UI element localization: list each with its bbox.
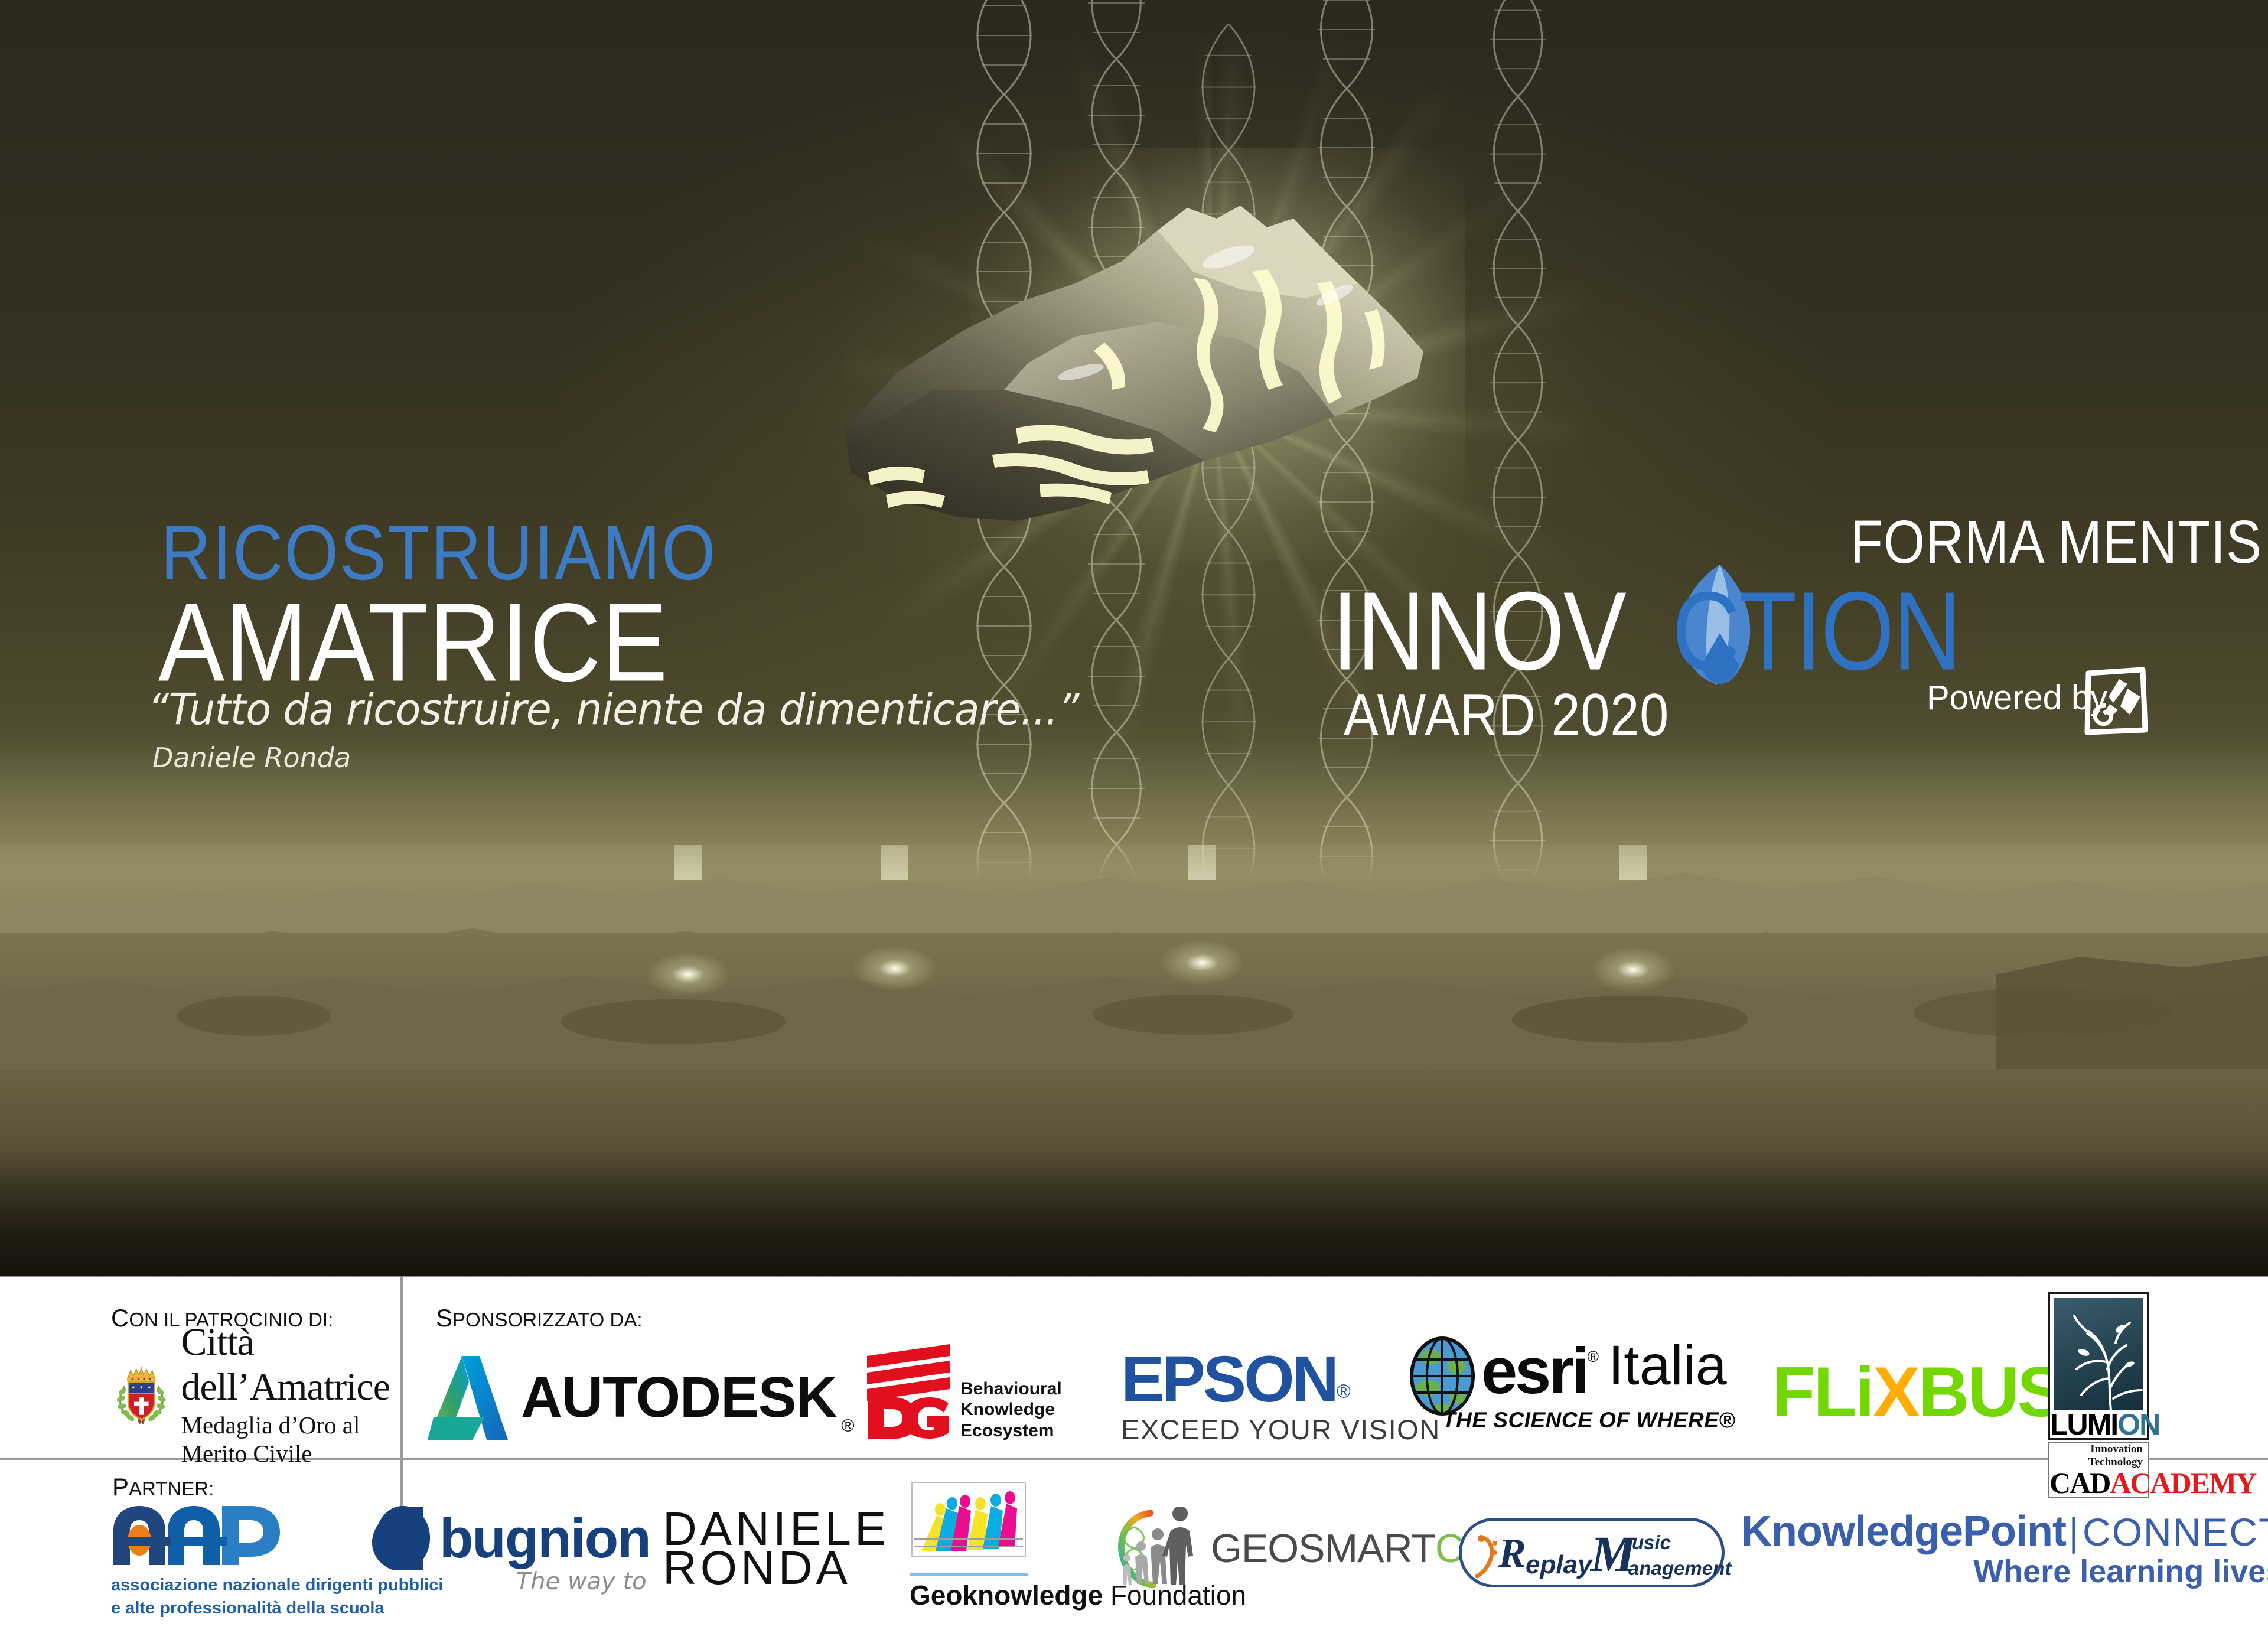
logo-replay-music-management[interactable]: R eplay M usic anagement	[1459, 1518, 1725, 1587]
award-name-part1: INNOV	[1332, 567, 1625, 695]
powered-by-label: Powered by	[1927, 678, 2107, 718]
logo-knowledgepoint-connect[interactable]: KnowledgePoint | CONNECT Where learning …	[1741, 1507, 2268, 1590]
dcg-mark-icon	[863, 1341, 952, 1441]
flixbus-x: X	[1873, 1352, 1918, 1432]
bugnion-wordmark: bugnion	[439, 1507, 650, 1569]
footer-top-divider	[0, 1276, 2268, 1277]
cadacademy-box: Innovation Technology CADACADEMY	[2048, 1442, 2149, 1498]
anp-mark-icon	[111, 1504, 298, 1567]
esri-tagline: THE SCIENCE OF WHERE®	[1442, 1408, 1735, 1433]
geoknowledge-part-a: Geoknowledge	[910, 1580, 1103, 1611]
poster-root: RICOSTRUIAMO AMATRICE “Tutto da ricostru…	[0, 0, 2268, 1630]
geosmartcampus-people-icon	[1116, 1507, 1205, 1590]
epson-wordmark: EPSON	[1121, 1343, 1337, 1416]
autodesk-registered: ®	[842, 1416, 855, 1436]
partner-label-cap: P	[112, 1473, 129, 1501]
dcg-line3: Ecosystem	[960, 1420, 1062, 1441]
award-name-part2: CTION	[1672, 567, 1960, 695]
knowledgepoint-connect: CONNECT	[2083, 1510, 2268, 1554]
hero-quote: “Tutto da ricostruire, niente da dimenti…	[148, 684, 1079, 735]
replay-r: R	[1498, 1530, 1526, 1577]
sponsor-label: SPONSORIZZATO DA:	[436, 1304, 643, 1332]
knowledgepoint-tagline: Where learning lives	[1741, 1553, 2268, 1590]
sponsor-label-rest: PONSORIZZATO DA:	[452, 1309, 642, 1331]
lumion-box: LUMION	[2048, 1292, 2149, 1440]
lumion-tree-icon	[2054, 1298, 2143, 1410]
terrain	[0, 845, 2268, 1276]
knowledgepoint-separator: |	[2068, 1510, 2080, 1554]
anp-line2: e alte professionalità della scuola	[111, 1597, 443, 1620]
replay-eplay: eplay	[1526, 1550, 1592, 1580]
cadacademy-part-b: ACADEMY	[2110, 1466, 2256, 1499]
logo-citta-dell-amatrice[interactable]: Città dell’Amatrice Medaglia d’Oro al Me…	[112, 1341, 390, 1447]
flixbus-part-b: BUS	[1918, 1352, 2062, 1432]
floating-rock-icon	[827, 195, 1447, 537]
anp-tagline: associazione nazionale dirigenti pubblic…	[111, 1574, 443, 1620]
dcg-line1: Behavioural	[960, 1378, 1062, 1399]
powered-by-brand-icon	[2084, 666, 2149, 735]
dcg-line2: Knowledge	[960, 1399, 1062, 1420]
award-logo: INNOV CTION	[1332, 567, 2123, 667]
autodesk-a-icon	[421, 1352, 508, 1442]
amatrice-name: Città dell’Amatrice	[181, 1320, 390, 1410]
amatrice-subtitle: Medaglia d’Oro al Merito Civile	[181, 1411, 390, 1468]
logo-lumion-cadacademy[interactable]: LUMION Innovation Technology CADACADEMY	[2048, 1292, 2149, 1498]
replay-music-box: R eplay M usic anagement	[1459, 1518, 1725, 1587]
epson-tagline: EXCEED YOUR VISION	[1121, 1413, 1441, 1446]
bugnion-mark-icon	[359, 1504, 435, 1573]
terrain-foreground-shadow	[0, 1152, 2268, 1276]
esri-wordmark: esri	[1481, 1334, 1588, 1409]
autodesk-wordmark: AUTODESK	[521, 1364, 837, 1430]
logo-bugnion[interactable]: bugnion The way to	[359, 1504, 650, 1573]
logo-esri-italia[interactable]: esri ® Italia THE SCIENCE OF WHERE®	[1407, 1334, 1735, 1433]
logo-dcg[interactable]: Behavioural Knowledge Ecosystem	[863, 1341, 1062, 1441]
hero-quote-author: Daniele Ronda	[152, 742, 351, 774]
logo-epson[interactable]: EPSON® EXCEED YOUR VISION	[1121, 1342, 1441, 1446]
amatrice-crest-icon	[112, 1343, 171, 1445]
bass-clef-icon	[1474, 1531, 1500, 1581]
bugnion-tagline: The way to	[516, 1568, 647, 1595]
replay-anagement: anagement	[1628, 1557, 1731, 1580]
partner-label: PARTNER:	[112, 1473, 214, 1501]
cadacademy-wordmark: CADACADEMY	[2049, 1469, 2148, 1497]
logo-daniele-ronda[interactable]: DANIELE RONDA	[663, 1510, 889, 1587]
logo-flixbus[interactable]: FLiXBUS	[1772, 1351, 2062, 1433]
esri-suffix: Italia	[1608, 1334, 1727, 1398]
cadacademy-part-a: CAD	[2049, 1466, 2110, 1499]
hero-scene: RICOSTRUIAMO AMATRICE “Tutto da ricostru…	[0, 0, 2268, 1276]
esri-registered: ®	[1588, 1348, 1599, 1366]
award-subtitle: AWARD 2020	[1344, 680, 1669, 749]
geoknowledge-school-icon	[910, 1480, 1028, 1569]
lumion-part-b: ON	[2117, 1408, 2159, 1441]
knowledgepoint-wordmark: KnowledgePoint	[1741, 1508, 2066, 1555]
cadacademy-tagline: Innovation Technology	[2049, 1443, 2148, 1469]
replay-usic: usic	[1632, 1531, 1671, 1554]
sponsor-label-cap: S	[436, 1304, 452, 1332]
patronage-label-cap: C	[111, 1304, 129, 1332]
lumion-wordmark: LUMION	[2050, 1410, 2147, 1439]
dcg-tagline: Behavioural Knowledge Ecosystem	[960, 1378, 1062, 1441]
partner-label-rest: ARTNER:	[129, 1478, 214, 1499]
logo-autodesk[interactable]: AUTODESK ®	[421, 1352, 855, 1442]
epson-registered: ®	[1337, 1381, 1351, 1402]
anp-line1: associazione nazionale dirigenti pubblic…	[111, 1574, 443, 1597]
esri-globe-icon	[1407, 1334, 1478, 1416]
geosmartcampus-part-a: GEOSMART	[1211, 1526, 1435, 1571]
flixbus-part-a: FLi	[1772, 1352, 1873, 1432]
lumion-part-a: LUMI	[2050, 1408, 2117, 1441]
